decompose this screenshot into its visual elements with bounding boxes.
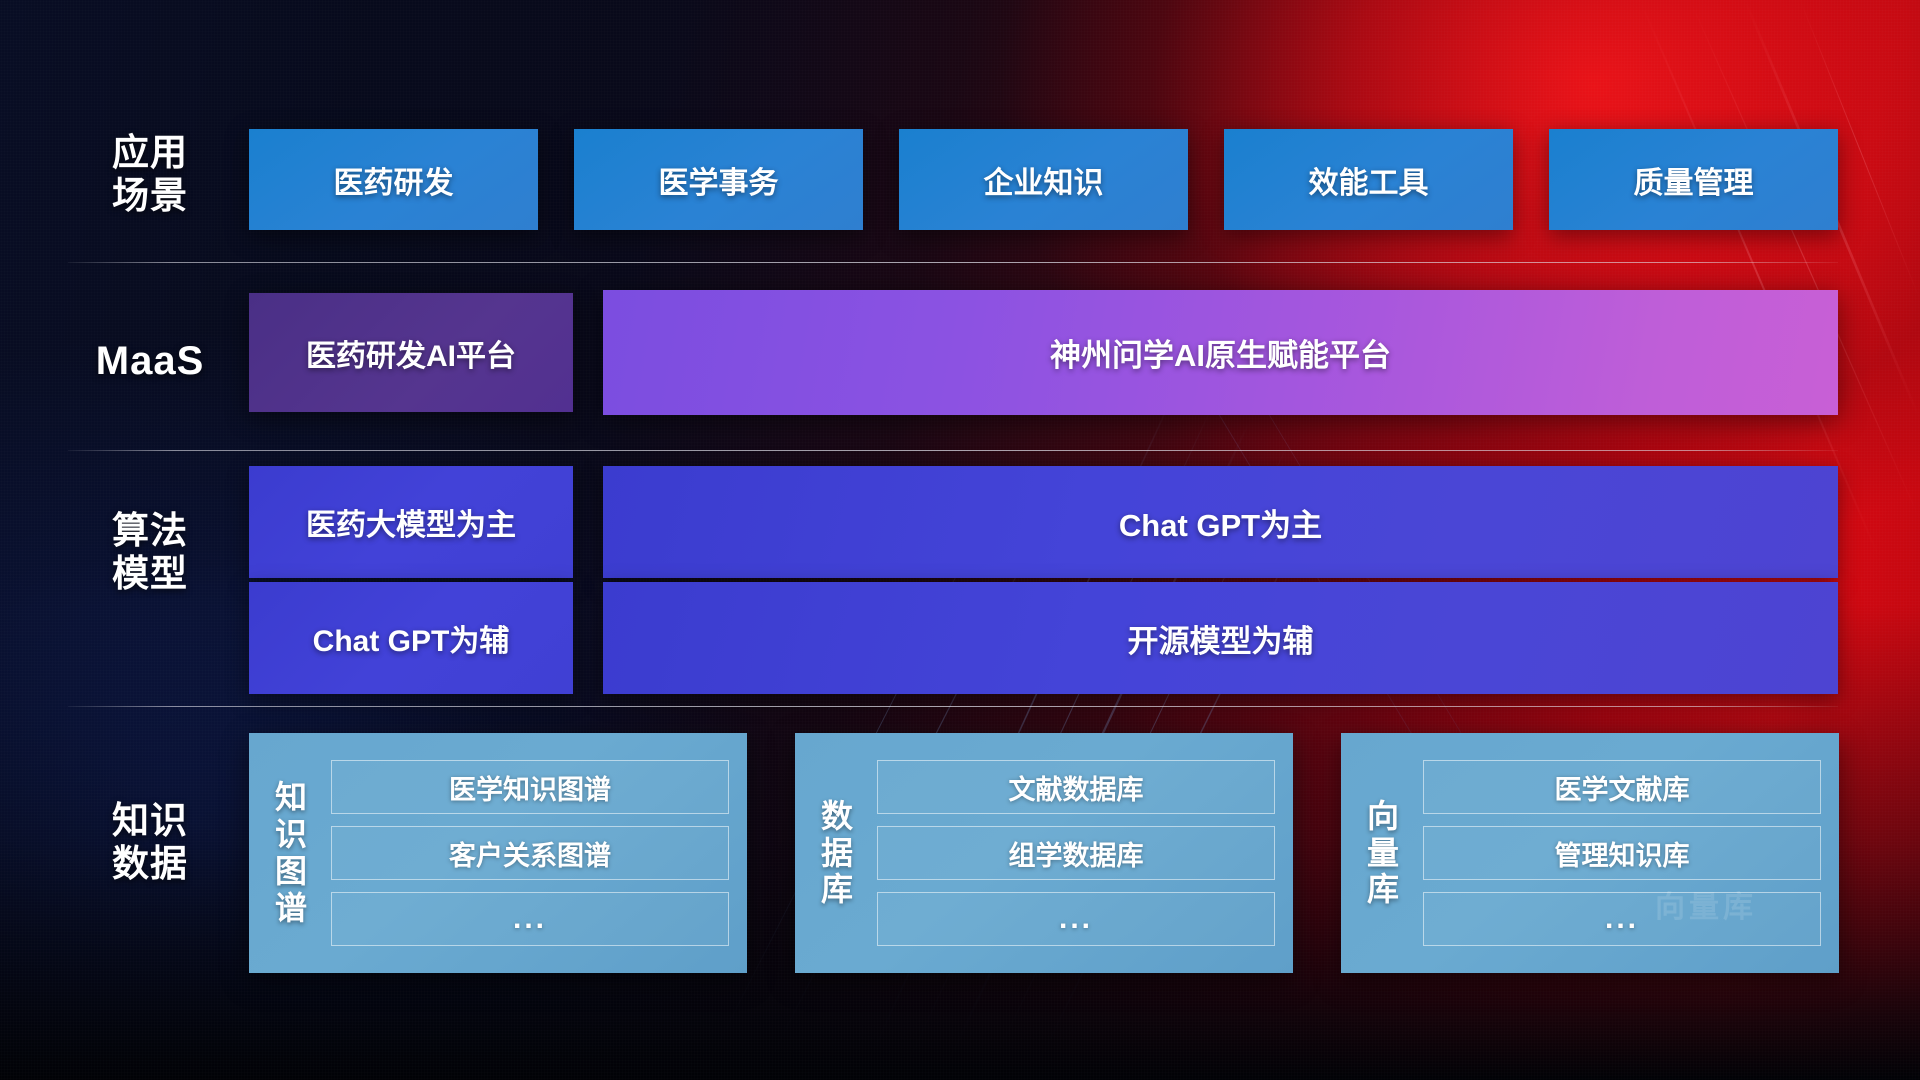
knowledge-item[interactable]: 医学知识图谱 — [331, 760, 729, 814]
app-box-label: 企业知识 — [984, 158, 1104, 202]
knowledge-item-more[interactable]: ... — [331, 892, 729, 946]
divider-maas-algorithm — [68, 450, 1838, 451]
algo-box-chatgpt-secondary[interactable]: Chat GPT为辅 — [249, 582, 573, 694]
knowledge-item[interactable]: 管理知识库 — [1423, 826, 1821, 880]
maas-box-label: 神州问学AI原生赋能平台 — [1050, 330, 1391, 375]
algo-box-opensource-secondary[interactable]: 开源模型为辅 — [603, 582, 1838, 694]
row-label-maas: MaaS — [60, 338, 240, 384]
knowledge-group-database[interactable]: 数据库 文献数据库 组学数据库 ... — [795, 733, 1293, 973]
algo-box-label: Chat GPT为辅 — [313, 616, 510, 660]
maas-box-shenzhou-wenxue-platform[interactable]: 神州问学AI原生赋能平台 — [603, 290, 1838, 415]
knowledge-group-title: 向量库 — [1355, 798, 1411, 908]
app-box-label: 医药研发 — [334, 158, 454, 202]
knowledge-item-list: 医学文献库 管理知识库 ... — [1423, 760, 1821, 946]
knowledge-item[interactable]: 组学数据库 — [877, 826, 1275, 880]
knowledge-item[interactable]: 医学文献库 — [1423, 760, 1821, 814]
knowledge-group-title: 数据库 — [809, 798, 865, 908]
divider-application-maas — [68, 262, 1838, 263]
app-box-medicine-rd[interactable]: 医药研发 — [249, 129, 538, 230]
diagram-content: 应用 场景 医药研发 医学事务 企业知识 效能工具 质量管理 MaaS 医药研发… — [0, 0, 1920, 1080]
app-box-enterprise-knowledge[interactable]: 企业知识 — [899, 129, 1188, 230]
knowledge-item-more[interactable]: ... — [877, 892, 1275, 946]
knowledge-group-vector-store[interactable]: 向量库 医学文献库 管理知识库 ... — [1341, 733, 1839, 973]
knowledge-item[interactable]: 文献数据库 — [877, 760, 1275, 814]
slide-canvas: 应用 场景 医药研发 医学事务 企业知识 效能工具 质量管理 MaaS 医药研发… — [0, 0, 1920, 1080]
algo-box-label: Chat GPT为主 — [1119, 500, 1322, 545]
app-box-label: 效能工具 — [1309, 158, 1429, 202]
maas-box-label: 医药研发AI平台 — [306, 331, 516, 375]
algo-box-chatgpt-primary[interactable]: Chat GPT为主 — [603, 466, 1838, 578]
algo-box-label: 医药大模型为主 — [306, 500, 516, 544]
row-label-knowledge: 知识 数据 — [60, 800, 240, 886]
app-box-label: 医学事务 — [659, 158, 779, 202]
row-label-algorithm: 算法 模型 — [60, 510, 240, 596]
maas-box-medicine-ai-platform[interactable]: 医药研发AI平台 — [249, 293, 573, 412]
app-box-efficiency-tools[interactable]: 效能工具 — [1224, 129, 1513, 230]
knowledge-item-list: 医学知识图谱 客户关系图谱 ... — [331, 760, 729, 946]
app-box-quality-management[interactable]: 质量管理 — [1549, 129, 1838, 230]
knowledge-item-list: 文献数据库 组学数据库 ... — [877, 760, 1275, 946]
algo-box-label: 开源模型为辅 — [1128, 616, 1314, 661]
divider-algorithm-knowledge — [68, 706, 1838, 707]
row-label-application: 应用 场景 — [60, 132, 240, 218]
app-box-medical-affairs[interactable]: 医学事务 — [574, 129, 863, 230]
algo-box-medicine-large-model-primary[interactable]: 医药大模型为主 — [249, 466, 573, 578]
knowledge-item-more[interactable]: ... — [1423, 892, 1821, 946]
knowledge-group-knowledge-graph[interactable]: 知识图谱 医学知识图谱 客户关系图谱 ... — [249, 733, 747, 973]
app-box-label: 质量管理 — [1634, 158, 1754, 202]
knowledge-group-title: 知识图谱 — [263, 779, 319, 926]
knowledge-item[interactable]: 客户关系图谱 — [331, 826, 729, 880]
